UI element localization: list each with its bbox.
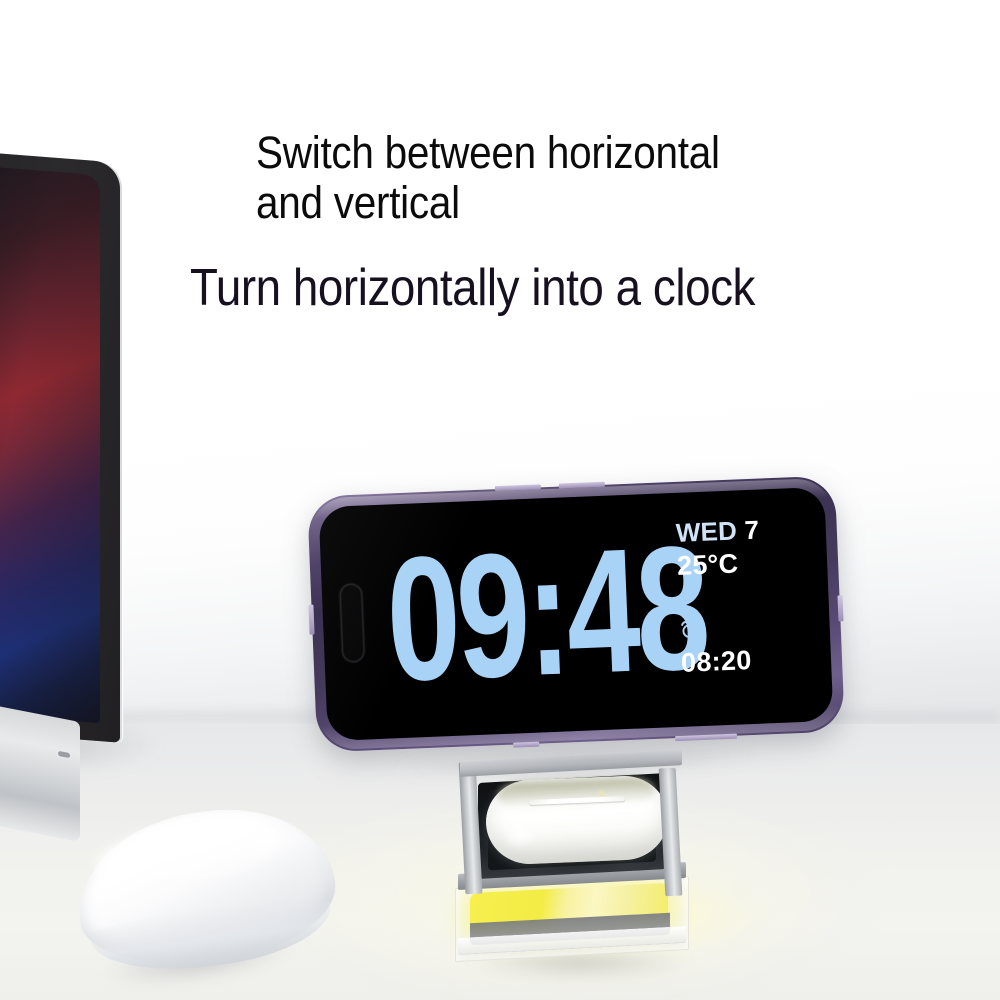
day-of-week-label: WED: [675, 515, 737, 547]
headline-secondary: Turn horizontally into a clock: [190, 262, 876, 314]
laptop-lid: [0, 137, 120, 742]
laptop-screen-shading: [0, 137, 120, 742]
apple-logo-icon: [185, 873, 215, 907]
airpods-highlight: [502, 822, 537, 849]
airpods-case: [484, 770, 670, 870]
phone-screen[interactable]: 09:48 WED 7 25°C 08:20: [319, 487, 834, 741]
mute-switch[interactable]: [513, 742, 539, 748]
airpods-case-body: [484, 774, 669, 866]
temperature-display: 25°C: [676, 543, 817, 583]
alarm-widget[interactable]: 08:20: [679, 618, 752, 678]
alarm-time-display: 08:20: [680, 645, 752, 678]
phone-antenna-band-right: [837, 595, 843, 621]
headline-primary: Switch between horizontal and vertical: [256, 128, 796, 229]
macbook-laptop: [0, 150, 190, 750]
day-of-month-label: 7: [744, 515, 760, 546]
clock-info-column: WED 7 25°C 08:20: [675, 511, 818, 583]
magic-mouse: [67, 795, 346, 999]
dynamic-island: [340, 584, 365, 663]
product-image-stage: 09:48 WED 7 25°C 08:20: [0, 0, 1000, 1000]
iphone-device: 09:48 WED 7 25°C 08:20: [307, 476, 845, 753]
alarm-clock-icon: [679, 620, 699, 640]
clock-time-display: 09:48: [383, 513, 584, 721]
